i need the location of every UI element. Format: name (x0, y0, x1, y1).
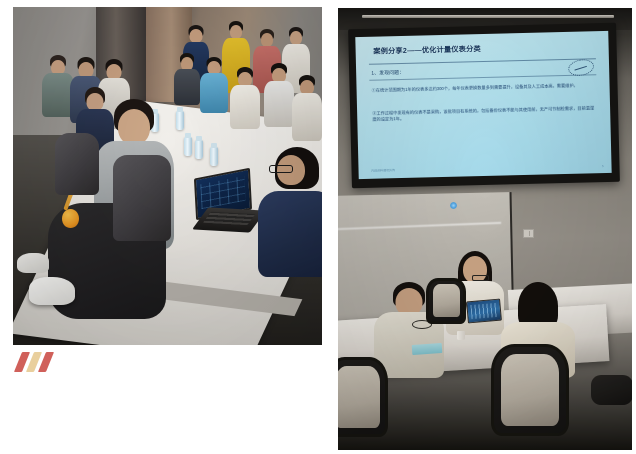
slide-footer-text: 内部资料请勿外传 (371, 168, 395, 173)
slide-section-label: 1、发现问题： (371, 68, 404, 76)
head (290, 31, 302, 45)
head (118, 109, 150, 145)
sneaker (17, 253, 49, 273)
chair-base (591, 375, 632, 405)
head (190, 29, 203, 43)
water-bottle (176, 111, 184, 130)
presenter-eyeglasses (472, 275, 489, 281)
torso (292, 93, 322, 141)
slide-paragraph-2: ②工作过程中发现有的仪表不是采购，该批项目有系统的，包括备份仪表不能与其使用前，… (372, 105, 595, 123)
office-chair (338, 357, 388, 437)
chair-pad (433, 284, 460, 318)
presentation-screen-photo: 案例分享2——优化计量仪表分类 1、发现问题： ①在统计范围期为1年的仪表多达约… (338, 8, 632, 450)
slide-paragraph-1: ①在统计范围期为1年的仪表多达约300个，每年仪表更换数量多到需要提升，设备其及… (371, 82, 594, 94)
head (261, 33, 273, 47)
water-bottle (210, 147, 218, 166)
person-seated (229, 67, 261, 129)
torso (174, 69, 200, 105)
chair-pad (338, 366, 380, 428)
office-chair (55, 133, 99, 195)
slide-title-rule (368, 58, 595, 65)
office-chair (491, 344, 569, 436)
sneaker (29, 277, 75, 305)
water-bottle (195, 140, 203, 159)
person-seated (173, 53, 201, 105)
chair-pad (501, 354, 559, 426)
wall-switch (523, 229, 534, 238)
laptop-open (466, 298, 502, 323)
torso (230, 85, 260, 129)
paper-cup (457, 331, 465, 340)
presentation-slide: 案例分享2——优化计量仪表分类 1、发现问题： ①在统计范围期为1年的仪表多达约… (355, 31, 611, 179)
triple-slash-decoration (18, 352, 70, 372)
slide-page-number: 5 (602, 163, 604, 167)
person-seated (291, 75, 322, 141)
office-chair (426, 278, 466, 324)
water-bottle (184, 137, 192, 156)
eyeglasses (269, 165, 293, 173)
orange-gourd-prop (62, 209, 79, 228)
slide-title: 案例分享2——优化计量仪表分类 (373, 44, 481, 57)
classroom-audience-photo (13, 7, 322, 345)
projector-screen-frame: 案例分享2——优化计量仪表分类 1、发现问题： ①在统计范围期为1年的仪表多达约… (348, 22, 619, 188)
printed-handout (411, 343, 442, 355)
screen-mount-rail (362, 15, 615, 18)
torso (264, 81, 294, 127)
head (230, 25, 242, 39)
torso (200, 73, 228, 113)
person-seated (199, 57, 229, 113)
office-chair (113, 155, 171, 241)
torso (258, 191, 322, 277)
